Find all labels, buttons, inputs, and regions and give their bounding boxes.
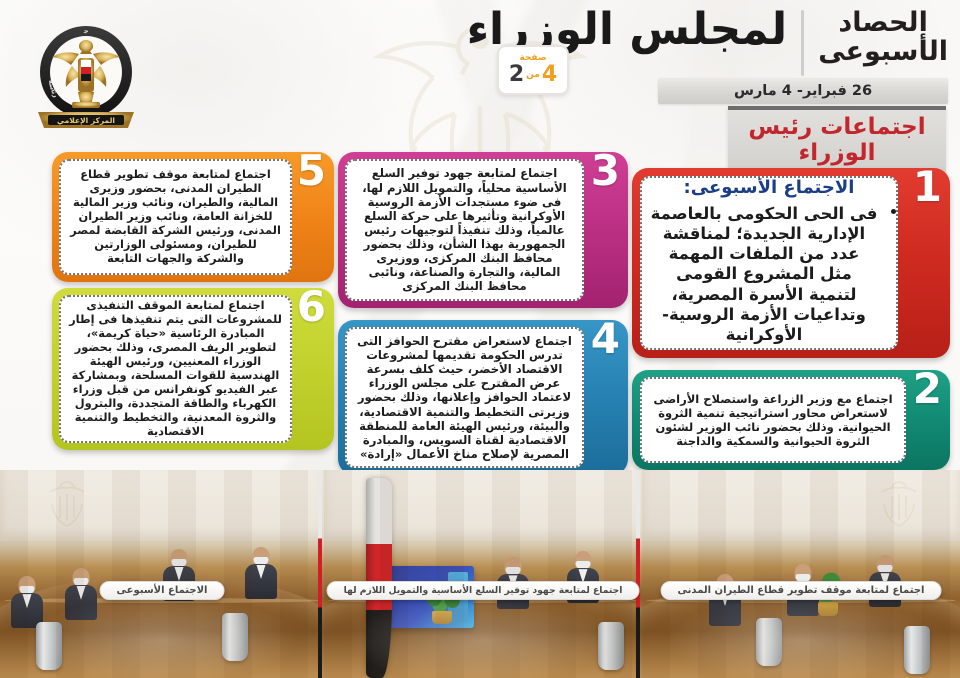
- meeting-photo-supplies: اجتماع لمتابعة جهود توفير السلع الأساسية…: [324, 470, 642, 678]
- photo-strip: اجتماع لمتابعة موقف تطوير قطاع الطيران ا…: [0, 470, 960, 678]
- meeting-photo-weekly: اجتماع لمتابعة موقف تطوير قطاع الطيران ا…: [642, 470, 960, 678]
- meeting-room-scene: [324, 470, 642, 678]
- meeting-photo-aviation: الاجتماع الأسبوعى: [0, 470, 324, 678]
- card-inner-5: اجتماع لمتابعة موقف تطوير قطاع الطيران ا…: [59, 159, 292, 275]
- card-inner-2: اجتماع مع وزير الزراعة واستصلاح الأراضى …: [640, 377, 906, 463]
- attendee: [64, 568, 98, 620]
- meeting-card-3[interactable]: 3 اجتماع لمتابعة جهود توفير السلع الأساس…: [338, 152, 628, 308]
- date-range-bar: 26 فبراير- 4 مارس: [658, 78, 948, 104]
- wall-emblem-icon: [22, 474, 112, 530]
- card-text-3: اجتماع لمتابعة جهود توفير السلع الأساسية…: [347, 162, 582, 297]
- wall-panel: [642, 470, 960, 541]
- water-pitcher: [36, 622, 62, 670]
- wall-emblem-icon: [854, 474, 944, 530]
- water-pitcher: [904, 626, 930, 674]
- water-pitcher: [756, 618, 782, 666]
- water-pitcher: [598, 622, 624, 670]
- card-inner-1: الاجتماع الأسبوعى: فى الحى الحكومى بالعا…: [640, 176, 898, 350]
- meeting-card-2[interactable]: 2 اجتماع مع وزير الزراعة واستصلاح الأراض…: [632, 370, 950, 470]
- photo-caption-2: اجتماع لمتابعة جهود توفير السلع الأساسية…: [327, 581, 640, 600]
- meeting-card-4[interactable]: 4 اجتماع لاستعراض مقترح الحوافز التى تدر…: [338, 320, 628, 475]
- harvest-line-1: الحصاد: [818, 8, 948, 37]
- meeting-card-5[interactable]: 5 اجتماع لمتابعة موقف تطوير قطاع الطيران…: [52, 152, 334, 282]
- photo-divider-flag: [318, 470, 322, 678]
- svg-text:المركز الإعلامي: المركز الإعلامي: [57, 116, 115, 125]
- card-number-4: 4: [591, 318, 620, 360]
- header: الحصاد الأسبوعى لمجلس الوزراء 26 فبراير-…: [400, 0, 960, 150]
- card-text-5: اجتماع لمتابعة موقف تطوير قطاع الطيران ا…: [61, 164, 290, 269]
- harvest-title-block: الحصاد الأسبوعى: [818, 6, 948, 66]
- page-badge-total: 4: [542, 64, 557, 86]
- section-title-label: اجتماعات رئيس الوزراء: [728, 115, 946, 167]
- page-badge-current: 2: [509, 64, 524, 86]
- card-number-6: 6: [297, 286, 326, 328]
- egypt-flag-icon: [366, 478, 392, 678]
- wall-panel: [0, 470, 324, 541]
- card-inner-6: اجتماع لمتابعة الموقف التنفيذى للمشروعات…: [59, 295, 292, 443]
- photo-caption-1: اجتماع لمتابعة موقف تطوير قطاع الطيران ا…: [661, 581, 942, 600]
- harvest-line-2: الأسبوعى: [818, 37, 948, 66]
- meeting-card-1[interactable]: 1 الاجتماع الأسبوعى: فى الحى الحكومى بال…: [632, 168, 950, 358]
- meeting-room-scene: [642, 470, 960, 678]
- meeting-card-6[interactable]: 6 اجتماع لمتابعة الموقف التنفيذى للمشروع…: [52, 288, 334, 450]
- card-title-1: الاجتماع الأسبوعى:: [642, 177, 896, 198]
- attendee: [10, 576, 44, 628]
- photo-caption-3: الاجتماع الأسبوعى: [100, 581, 225, 600]
- card-number-5: 5: [297, 150, 326, 192]
- page-badge-numbers: 4 من 2: [509, 64, 557, 86]
- card-text-1: فى الحى الحكومى بالعاصمة الإدارية الجديد…: [642, 200, 886, 349]
- date-range-label: 26 فبراير- 4 مارس: [734, 83, 872, 99]
- bullet-dot-icon: [891, 209, 896, 214]
- card-number-2: 2: [913, 368, 942, 410]
- card-text-4: اجتماع لاستعراض مقترح الحوافز التى تدرس …: [347, 330, 582, 465]
- card-number-1: 1: [913, 166, 942, 208]
- card-text-2: اجتماع مع وزير الزراعة واستصلاح الأراضى …: [642, 388, 904, 452]
- meeting-room-scene: [0, 470, 324, 678]
- card-inner-4: اجتماع لاستعراض مقترح الحوافز التى تدرس …: [345, 327, 584, 468]
- wall-panel: [324, 470, 642, 541]
- water-pitcher: [222, 613, 248, 661]
- card-text-6: اجتماع لمتابعة الموقف التنفيذى للمشروعات…: [61, 295, 290, 442]
- page-number-badge: صفحة 4 من 2: [497, 45, 569, 95]
- card-inner-3: اجتماع لمتابعة جهود توفير السلع الأساسية…: [345, 159, 584, 301]
- card-bullet-row-1: فى الحى الحكومى بالعاصمة الإدارية الجديد…: [642, 200, 896, 349]
- card-number-3: 3: [591, 150, 620, 192]
- photo-divider-flag: [636, 470, 640, 678]
- infographic-page: المركز الإعلامي جمهورية مصر العربية رئاس…: [0, 0, 960, 678]
- header-divider: [801, 10, 804, 76]
- cabinet-media-center-emblem: المركز الإعلامي جمهورية مصر العربية رئاس…: [22, 14, 150, 142]
- attendee: [244, 547, 278, 599]
- page-badge-of: من: [526, 70, 540, 80]
